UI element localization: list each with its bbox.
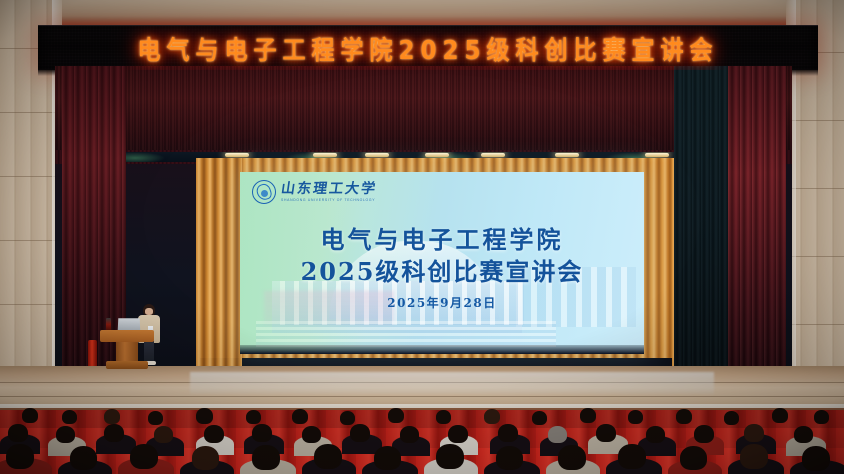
speaking-podium: [100, 330, 154, 368]
led-marquee-banner: 电气与电子工程学院2025级科创比赛宣讲会: [38, 25, 818, 70]
projection-slide: 山东理工大学 SHANDONG UNIVERSITY OF TECHNOLOGY…: [240, 172, 644, 354]
fire-extinguisher: [88, 340, 97, 368]
teal-curtain-right: [674, 66, 734, 374]
slide-building-steps: [256, 321, 556, 347]
slide-title: 电气与电子工程学院 2025级科创比赛宣讲会: [240, 224, 644, 287]
slide-title-line1: 电气与电子工程学院: [240, 224, 644, 256]
led-banner-text: 电气与电子工程学院2025级科创比赛宣讲会: [137, 29, 718, 67]
sdut-emblem-icon: [252, 180, 276, 204]
gold-curtain-left-wing: [196, 158, 242, 370]
logo-chinese-name: 山东理工大学: [280, 182, 378, 196]
slide-date: 2025年9月28日: [240, 294, 644, 311]
projection-screen: 山东理工大学 SHANDONG UNIVERSITY OF TECHNOLOGY…: [240, 172, 644, 354]
slide-title-line2: 2025级科创比赛宣讲会: [240, 256, 644, 288]
auditorium-photo: 电气与电子工程学院2025级科创比赛宣讲会: [0, 0, 844, 474]
audience-seating: [0, 408, 844, 474]
university-logo: 山东理工大学 SHANDONG UNIVERSITY OF TECHNOLOGY: [252, 180, 377, 204]
logo-english-name: SHANDONG UNIVERSITY OF TECHNOLOGY: [281, 198, 377, 202]
screen-lower-edge: [240, 345, 644, 354]
stage-floor-reflection: [190, 372, 714, 394]
red-curtain-right: [728, 66, 786, 372]
